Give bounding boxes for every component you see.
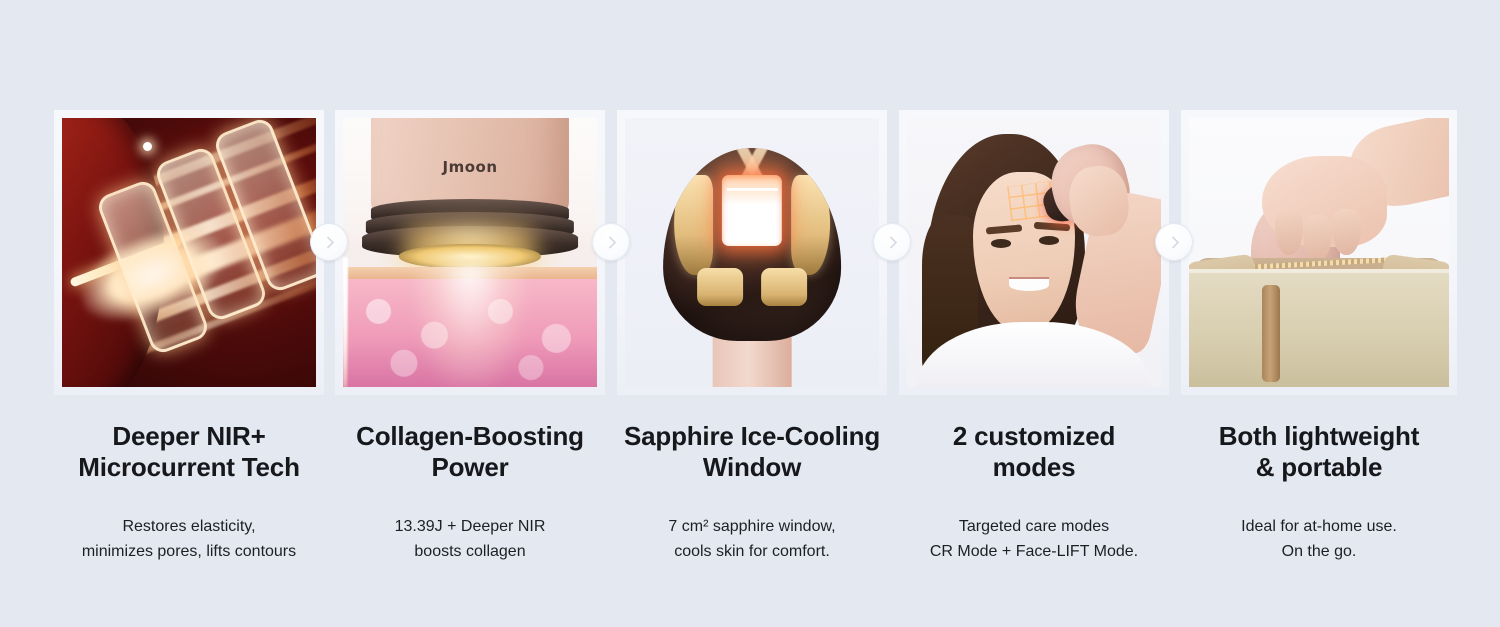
carousel-next-button[interactable] bbox=[1155, 223, 1193, 261]
card-title: Collagen-Boosting Power bbox=[335, 421, 605, 483]
card-title: Deeper NIR+ Microcurrent Tech bbox=[54, 421, 324, 483]
card-image: Jmoon bbox=[1189, 118, 1449, 387]
card-media-frame: Jmoon bbox=[335, 110, 605, 395]
carousel-next-button[interactable] bbox=[310, 223, 348, 261]
nir-light-panel-illustration bbox=[62, 118, 316, 387]
card-media-frame bbox=[54, 110, 324, 395]
card-description: 7 cm² sapphire window, cools skin for co… bbox=[617, 514, 887, 564]
chevron-right-icon bbox=[603, 236, 616, 249]
chevron-right-icon bbox=[884, 236, 897, 249]
card-caption: Collagen-Boosting Power 13.39J + Deeper … bbox=[335, 395, 605, 564]
collagen-skin-illustration: Jmoon bbox=[343, 118, 597, 387]
card-caption: Both lightweight & portable Ideal for at… bbox=[1181, 395, 1457, 564]
card-image: Jmoon bbox=[343, 118, 597, 387]
card-media-frame bbox=[899, 110, 1169, 395]
carousel-next-button[interactable] bbox=[592, 223, 630, 261]
card-title: Sapphire Ice-Cooling Window bbox=[617, 421, 887, 483]
card-caption: Sapphire Ice-Cooling Window 7 cm² sapphi… bbox=[617, 395, 887, 564]
feature-card[interactable]: Deeper NIR+ Microcurrent Tech Restores e… bbox=[54, 110, 324, 564]
feature-card[interactable]: Jmoon Both lightweight & portable Ideal … bbox=[1181, 110, 1457, 564]
chevron-right-icon bbox=[1166, 236, 1179, 249]
card-title: Both lightweight & portable bbox=[1181, 421, 1457, 483]
card-caption: 2 customized modes Targeted care modes C… bbox=[899, 395, 1169, 564]
card-description: 13.39J + Deeper NIR boosts collagen bbox=[335, 514, 605, 564]
carousel-next-button[interactable] bbox=[873, 223, 911, 261]
card-caption: Deeper NIR+ Microcurrent Tech Restores e… bbox=[54, 395, 324, 564]
card-media-frame: Jmoon bbox=[1181, 110, 1457, 395]
card-title: 2 customized modes bbox=[899, 421, 1169, 483]
sapphire-window-device-illustration bbox=[625, 118, 879, 387]
card-image bbox=[625, 118, 879, 387]
feature-carousel: Deeper NIR+ Microcurrent Tech Restores e… bbox=[0, 0, 1500, 627]
feature-card[interactable]: 2 customized modes Targeted care modes C… bbox=[899, 110, 1169, 564]
feature-card[interactable]: Jmoon Collagen-Boosting Power bbox=[335, 110, 605, 564]
card-image bbox=[907, 118, 1161, 387]
feature-card[interactable]: Sapphire Ice-Cooling Window 7 cm² sapphi… bbox=[617, 110, 887, 564]
chevron-right-icon bbox=[321, 236, 334, 249]
card-description: Targeted care modes CR Mode + Face-LIFT … bbox=[899, 514, 1169, 564]
model-using-device-illustration bbox=[907, 118, 1161, 387]
card-media-frame bbox=[617, 110, 887, 395]
card-description: Ideal for at-home use. On the go. bbox=[1181, 514, 1457, 564]
card-description: Restores elasticity, minimizes pores, li… bbox=[54, 514, 324, 564]
portable-bag-illustration: Jmoon bbox=[1189, 118, 1449, 387]
card-image bbox=[62, 118, 316, 387]
device-brand-label: Jmoon bbox=[443, 158, 498, 176]
